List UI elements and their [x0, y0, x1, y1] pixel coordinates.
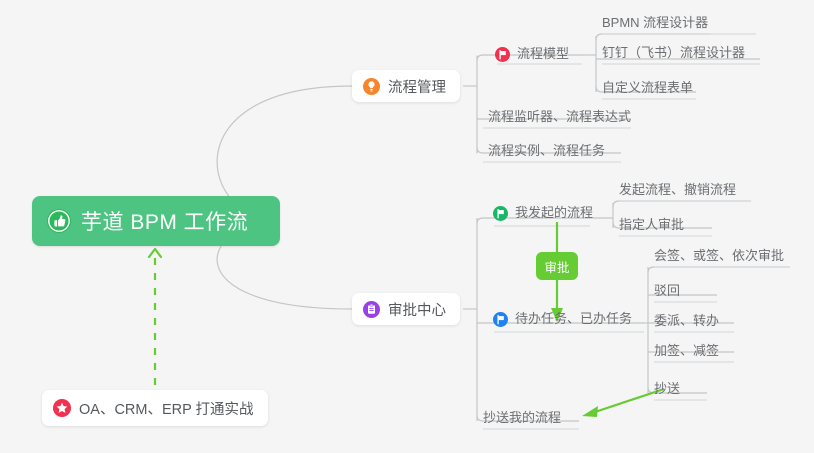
topic-label: 自定义流程表单: [602, 79, 693, 97]
topic-dingtalk-designer[interactable]: 钉钉（飞书）流程设计器: [602, 44, 745, 62]
topic-todo-done-tasks[interactable]: 待办任务、已办任务: [493, 310, 632, 328]
topic-cc-to-me-processes[interactable]: 抄送我的流程: [483, 409, 561, 427]
thumbs-up-icon: [46, 208, 72, 234]
annotation-badge-approval[interactable]: 审批: [536, 252, 578, 280]
topic-initiate-cancel-process[interactable]: 发起流程、撤销流程: [619, 181, 736, 199]
branch-label-process-management: 流程管理: [388, 76, 446, 97]
topic-process-model[interactable]: 流程模型: [495, 45, 569, 63]
topic-label: 委派、转办: [654, 312, 719, 330]
branch-node-process-management[interactable]: 流程管理: [352, 70, 460, 102]
flag-icon-red: [495, 47, 510, 62]
topic-countersign-approval[interactable]: 会签、或签、依次审批: [654, 247, 784, 265]
topic-label: 我发起的流程: [515, 204, 593, 222]
topic-label: 抄送: [654, 380, 680, 398]
star-icon: [53, 399, 71, 417]
topic-label: 发起流程、撤销流程: [619, 181, 736, 199]
arrowhead-upward: [149, 249, 161, 257]
topic-label: 流程模型: [517, 45, 569, 63]
wire-pmodel-sub-1: [596, 34, 711, 40]
clipboard-icon: [363, 301, 380, 318]
topic-label: 钉钉（飞书）流程设计器: [602, 44, 745, 62]
topic-carbon-copy[interactable]: 抄送: [654, 380, 680, 398]
floating-node-label: OA、CRM、ERP 打通实战: [79, 398, 254, 419]
lightbulb-icon: [363, 78, 380, 95]
wire-mine-sub-1: [613, 201, 751, 207]
topic-label: 加签、减签: [654, 342, 719, 360]
topic-label: 流程实例、流程任务: [488, 142, 605, 160]
arrowhead-cc: [582, 406, 598, 417]
topic-label: 指定人审批: [619, 216, 684, 234]
flag-icon-blue: [493, 312, 508, 327]
topic-label: 会签、或签、依次审批: [654, 247, 784, 265]
topic-label: BPMN 流程设计器: [602, 14, 708, 32]
topic-label: 驳回: [654, 282, 680, 300]
flag-icon-green: [493, 206, 508, 221]
annotation-label: 审批: [544, 257, 569, 276]
root-node[interactable]: 芋道 BPM 工作流: [32, 196, 280, 246]
topic-process-instance-task[interactable]: 流程实例、流程任务: [488, 142, 605, 160]
topic-my-initiated-processes[interactable]: 我发起的流程: [493, 204, 593, 222]
branch-label-approval-center: 审批中心: [388, 299, 446, 320]
branch-node-approval-center[interactable]: 审批中心: [352, 293, 460, 325]
mindmap-canvas: 芋道 BPM 工作流 流程管理 审批中心: [0, 0, 814, 453]
topic-add-remove-sign[interactable]: 加签、减签: [654, 342, 719, 360]
topic-custom-process-form[interactable]: 自定义流程表单: [602, 79, 693, 97]
topic-label: 待办任务、已办任务: [515, 310, 632, 328]
topic-bpmn-designer[interactable]: BPMN 流程设计器: [602, 14, 708, 32]
topic-label: 抄送我的流程: [483, 409, 561, 427]
floating-node-integration[interactable]: OA、CRM、ERP 打通实战: [42, 390, 268, 426]
topic-process-listener-expression[interactable]: 流程监听器、流程表达式: [488, 108, 631, 126]
topic-delegate-transfer[interactable]: 委派、转办: [654, 312, 719, 330]
topic-assignee-approval[interactable]: 指定人审批: [619, 216, 684, 234]
wire-todo-sub-1: [648, 267, 790, 273]
root-label: 芋道 BPM 工作流: [81, 206, 248, 236]
topic-reject[interactable]: 驳回: [654, 282, 680, 300]
topic-label: 流程监听器、流程表达式: [488, 108, 631, 126]
